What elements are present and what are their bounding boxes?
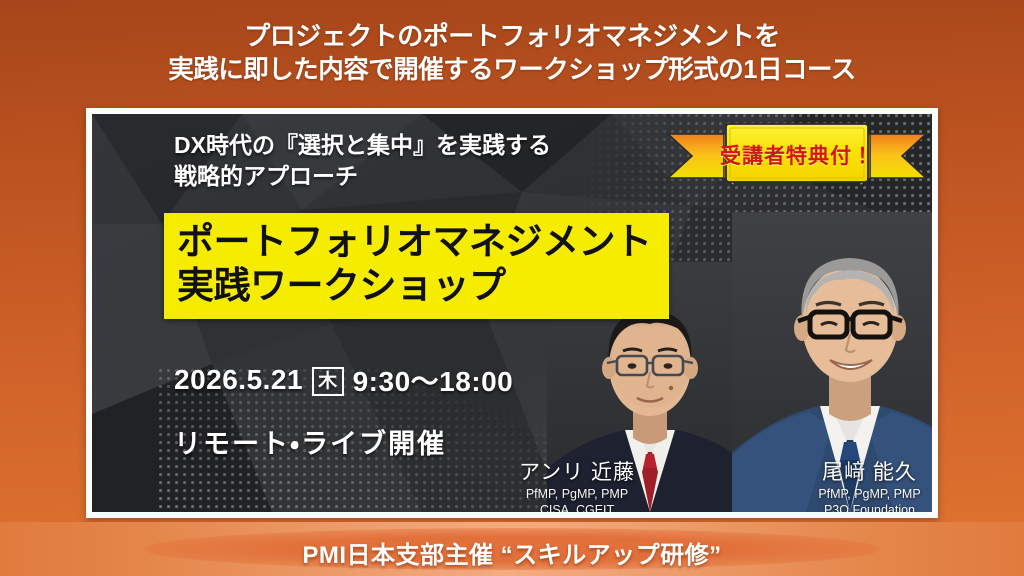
banner-title-highlight: ポートフォリオマネジメント 実践ワークショップ (164, 213, 669, 319)
speaker-credentials-line-2: P3O Foundation (782, 503, 932, 512)
speaker-caption-ozaki: 尾﨑 能久 PfMP, PgMP, PMP P3O Foundation (782, 456, 932, 512)
headline-line-1: プロジェクトのポートフォリオマネジメントを (0, 20, 1024, 54)
speaker-credentials-line-1: PfMP, PgMP, PMP (482, 487, 672, 502)
speaker-credentials-line-2: CISA, CGEIT (482, 503, 672, 512)
event-format: リモート・ライブ開催 (174, 422, 513, 461)
event-banner: DX時代の『選択と集中』を実践する 戦略的アプローチ ポートフォリオマネジメント… (92, 114, 932, 512)
footer-text: PMI日本支部主催 “スキルアップ研修” (0, 535, 1024, 570)
banner-subtitle: DX時代の『選択と集中』を実践する 戦略的アプローチ (174, 130, 551, 193)
speaker-credentials-line-1: PfMP, PgMP, PMP (782, 487, 932, 502)
headline-line-2: 実践に即した内容で開催するワークショップ形式の1日コース (0, 54, 1024, 87)
banner-title-line-1: ポートフォリオマネジメント (177, 220, 652, 264)
banner-subtitle-line-2: 戦略的アプローチ (174, 161, 551, 192)
footer-band: PMI日本支部主催 “スキルアップ研修” (0, 522, 1024, 576)
event-date: 2026.5.21 (174, 364, 303, 396)
banner-subtitle-line-1: DX時代の『選択と集中』を実践する (174, 130, 551, 161)
page-headline: プロジェクトのポートフォリオマネジメントを 実践に即した内容で開催するワークショ… (0, 20, 1024, 87)
event-time: 9:30〜18:00 (353, 360, 514, 400)
banner-title-line-2: 実践ワークショップ (177, 264, 652, 308)
event-schedule: 2026.5.21 木 9:30〜18:00 リモート・ライブ開催 (174, 360, 513, 461)
speaker-name: 尾﨑 能久 (782, 456, 932, 486)
event-day-of-week: 木 (312, 367, 344, 396)
speaker-caption-kondo: アンリ 近藤 PfMP, PgMP, PMP CISA, CGEIT (482, 456, 672, 512)
event-banner-frame: DX時代の『選択と集中』を実践する 戦略的アプローチ ポートフォリオマネジメント… (86, 108, 938, 518)
speaker-name: アンリ 近藤 (482, 456, 672, 486)
benefit-ribbon-badge: 受講者特典付！ (652, 118, 932, 196)
